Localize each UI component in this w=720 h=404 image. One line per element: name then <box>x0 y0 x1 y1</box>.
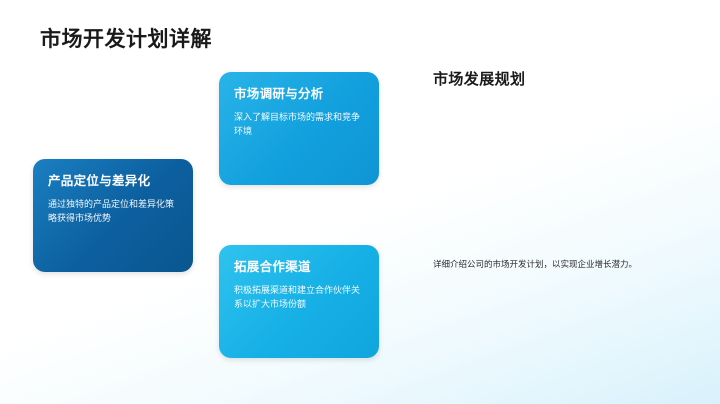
card-title: 产品定位与差异化 <box>48 173 178 189</box>
card-title: 市场调研与分析 <box>234 86 364 102</box>
card-partner-channel[interactable]: 拓展合作渠道 积极拓展渠道和建立合作伙伴关系以扩大市场份额 <box>219 245 379 358</box>
section-description: 详细介绍公司的市场开发计划，以实现企业增长潜力。 <box>433 258 688 272</box>
section-heading: 市场发展规划 <box>433 68 525 89</box>
slide-canvas: 市场开发计划详解 产品定位与差异化 通过独特的产品定位和差异化策略获得市场优势 … <box>0 0 720 404</box>
page-title: 市场开发计划详解 <box>40 23 212 53</box>
card-body: 通过独特的产品定位和差异化策略获得市场优势 <box>48 198 178 226</box>
card-body: 积极拓展渠道和建立合作伙伴关系以扩大市场份额 <box>234 284 364 312</box>
card-body: 深入了解目标市场的需求和竞争环境 <box>234 111 364 139</box>
card-market-research[interactable]: 市场调研与分析 深入了解目标市场的需求和竞争环境 <box>219 72 379 185</box>
card-title: 拓展合作渠道 <box>234 259 364 275</box>
card-product-positioning[interactable]: 产品定位与差异化 通过独特的产品定位和差异化策略获得市场优势 <box>33 159 193 272</box>
